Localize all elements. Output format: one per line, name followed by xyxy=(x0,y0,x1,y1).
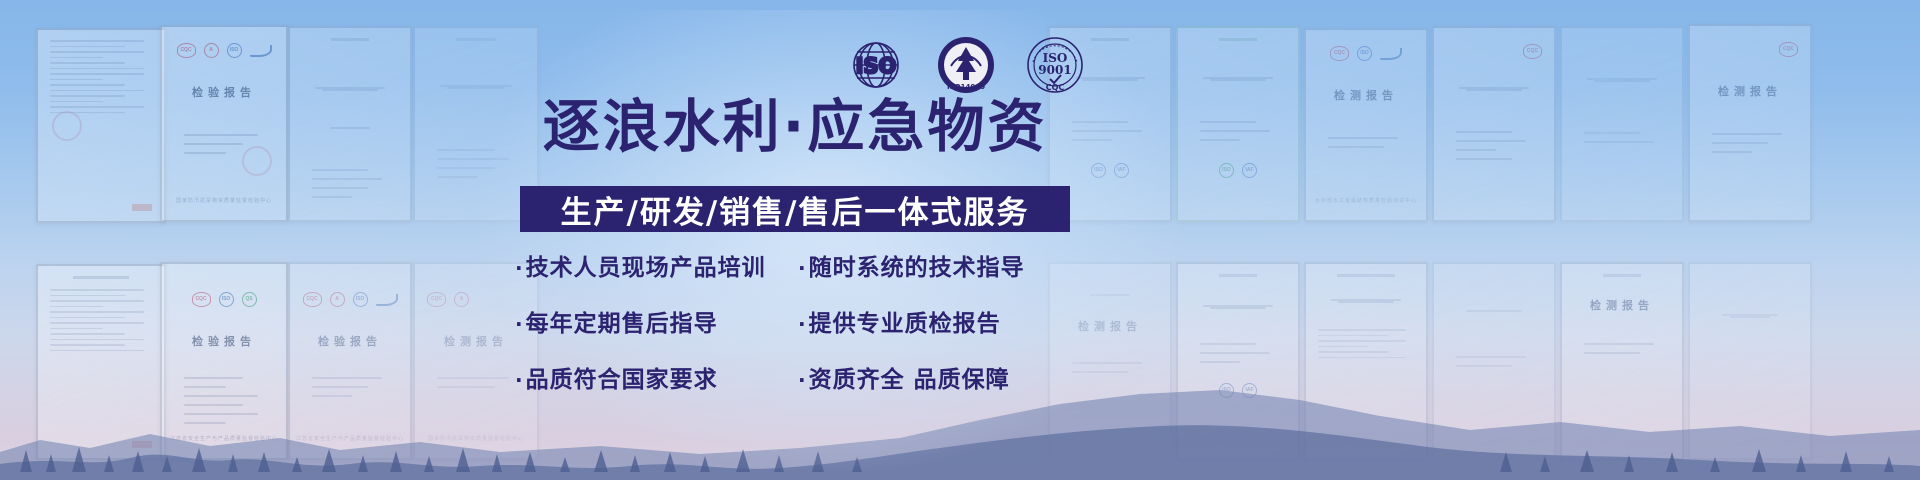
certificate-card: CQC ISO QS 检验报告 江苏省安全生产与产品质量监督检验中心 xyxy=(160,262,288,460)
cqc-mark-icon: CQC xyxy=(177,43,196,58)
certificate-title: 检测报告 xyxy=(1318,87,1414,103)
feature-item: ·资质齐全 品质保障 xyxy=(798,360,1075,394)
certificate-card xyxy=(288,26,412,222)
feature-label: 随时系统的技术指导 xyxy=(809,255,1025,281)
bullet-dot-icon: · xyxy=(798,256,807,280)
feature-item: ·每年定期售后指导 xyxy=(515,304,792,338)
certificate-card xyxy=(1304,262,1428,460)
banner-feature-list: ·技术人员现场产品培训 ·随时系统的技术指导 ·每年定期售后指导 ·提供专业质检… xyxy=(515,248,1075,394)
certificate-title: 检测报告 xyxy=(1702,83,1798,99)
certification-badge-row: ISO ISO14000 ISO 9001 CQC xyxy=(845,36,1085,94)
swoosh-mark-icon xyxy=(250,45,272,57)
bullet-dot-icon: · xyxy=(798,368,807,392)
certificate-footer: 江苏省安全生产与产品质量监督检验中心 xyxy=(290,435,410,442)
feature-label: 每年定期售后指导 xyxy=(526,311,718,337)
cqc-mark-icon: CQC xyxy=(1330,46,1349,61)
cqc-mark-icon: CQC xyxy=(1779,42,1798,57)
svg-text:9001: 9001 xyxy=(1038,63,1071,77)
certificate-card: ISO IAF xyxy=(1176,26,1300,222)
certificate-title: 检验报告 xyxy=(302,333,398,349)
bullet-dot-icon: · xyxy=(515,312,524,336)
certificate-footer: 国家防汛抗旱物资质量监督检验中心 xyxy=(162,197,286,204)
ccc-mark-icon: A xyxy=(330,292,345,307)
certificate-card xyxy=(1432,262,1556,460)
certificate-card: CQC 检测报告 xyxy=(1688,24,1812,222)
certificate-title: 检测报告 xyxy=(427,333,525,349)
certificate-card: CQC A ISO 检验报告 江苏省安全生产与产品质量监督检验中心 xyxy=(288,262,412,460)
feature-item: ·技术人员现场产品培训 xyxy=(515,248,792,282)
feature-label: 提供专业质检报告 xyxy=(809,311,1001,337)
iso-mark-icon: ISO xyxy=(1219,163,1234,178)
certificate-card xyxy=(1560,26,1684,222)
iaf-mark-icon: IAF xyxy=(1242,383,1257,398)
certificate-card xyxy=(1688,262,1812,460)
feature-item: ·品质符合国家要求 xyxy=(515,360,792,394)
banner-headline: 逐浪水利·应急物资 xyxy=(505,98,1085,158)
iaf-mark-icon: IAF xyxy=(1114,163,1129,178)
iso-mark-icon: ISO xyxy=(1091,163,1106,178)
certificate-title: 检测报告 xyxy=(1574,297,1670,313)
cqc-mark-icon: CQC xyxy=(427,292,446,307)
iso-mark-icon: ISO xyxy=(1357,46,1372,61)
certificate-card xyxy=(36,264,166,460)
certificate-card: CQC A ISO 检验报告 国家防汛抗旱物资质量监督检验中心 xyxy=(160,25,288,222)
certificate-card: 检测报告 xyxy=(1560,262,1684,460)
svg-text:CQC: CQC xyxy=(1046,83,1065,92)
certificate-title: 检验报告 xyxy=(174,333,274,349)
certificate-card: CQC xyxy=(1432,26,1556,222)
feature-label: 资质齐全 品质保障 xyxy=(809,367,1010,393)
certificate-title: 检测报告 xyxy=(1062,318,1158,334)
feature-item: ·随时系统的技术指导 xyxy=(798,248,1075,282)
ccc-mark-icon: A xyxy=(454,292,469,307)
cqc-mark-icon: CQC xyxy=(1523,44,1542,59)
certificate-footer: 江苏省安全生产与产品质量监督检验中心 xyxy=(162,435,286,442)
iso-mark-icon: ISO xyxy=(353,292,368,307)
iaf-mark-icon: IAF xyxy=(1242,163,1257,178)
iso-mark-icon: ISO xyxy=(1219,383,1234,398)
bullet-dot-icon: · xyxy=(515,256,524,280)
ccc-mark-icon: A xyxy=(204,43,219,58)
iso-globe-badge-icon: ISO xyxy=(845,39,907,91)
bullet-dot-icon: · xyxy=(798,312,807,336)
swoosh-mark-icon xyxy=(376,294,398,306)
iso-mark-icon: ISO xyxy=(227,43,242,58)
bullet-dot-icon: · xyxy=(515,368,524,392)
svg-text:ISO: ISO xyxy=(856,54,897,78)
banner-subtitle-bar: 生产/研发/销售/售后一体式服务 xyxy=(520,186,1070,232)
certificate-title: 检验报告 xyxy=(174,84,274,100)
iso-mark-icon: ISO xyxy=(219,292,234,307)
cqc-mark-icon: CQC xyxy=(303,292,322,307)
swoosh-mark-icon xyxy=(1380,48,1402,60)
qs-mark-icon: QS xyxy=(242,292,257,307)
svg-text:ISO14000: ISO14000 xyxy=(947,83,985,91)
iso-14000-environment-badge-icon: ISO14000 xyxy=(937,36,995,94)
certificate-footer: 水利部水工金属结构质量检验测试中心 xyxy=(1306,197,1426,204)
cqc-mark-icon: CQC xyxy=(192,292,211,307)
feature-label: 技术人员现场产品培训 xyxy=(526,255,766,281)
feature-item: ·提供专业质检报告 xyxy=(798,304,1075,338)
certificate-card xyxy=(36,28,166,223)
banner-subtitle-text: 生产/研发/销售/售后一体式服务 xyxy=(561,187,1030,232)
certificate-card: ISO IAF xyxy=(1176,262,1300,460)
feature-label: 品质符合国家要求 xyxy=(526,367,718,393)
promo-banner: CQC A ISO 检验报告 国家防汛抗旱物资质量监督检验中心 xyxy=(0,0,1920,480)
iso-9001-cqc-badge-icon: ISO 9001 CQC xyxy=(1025,36,1085,94)
certificate-card: CQC ISO 检测报告 水利部水工金属结构质量检验测试中心 xyxy=(1304,28,1428,222)
certificate-footer: 国家防汛抗旱物资质量监督检验中心 xyxy=(415,435,537,442)
